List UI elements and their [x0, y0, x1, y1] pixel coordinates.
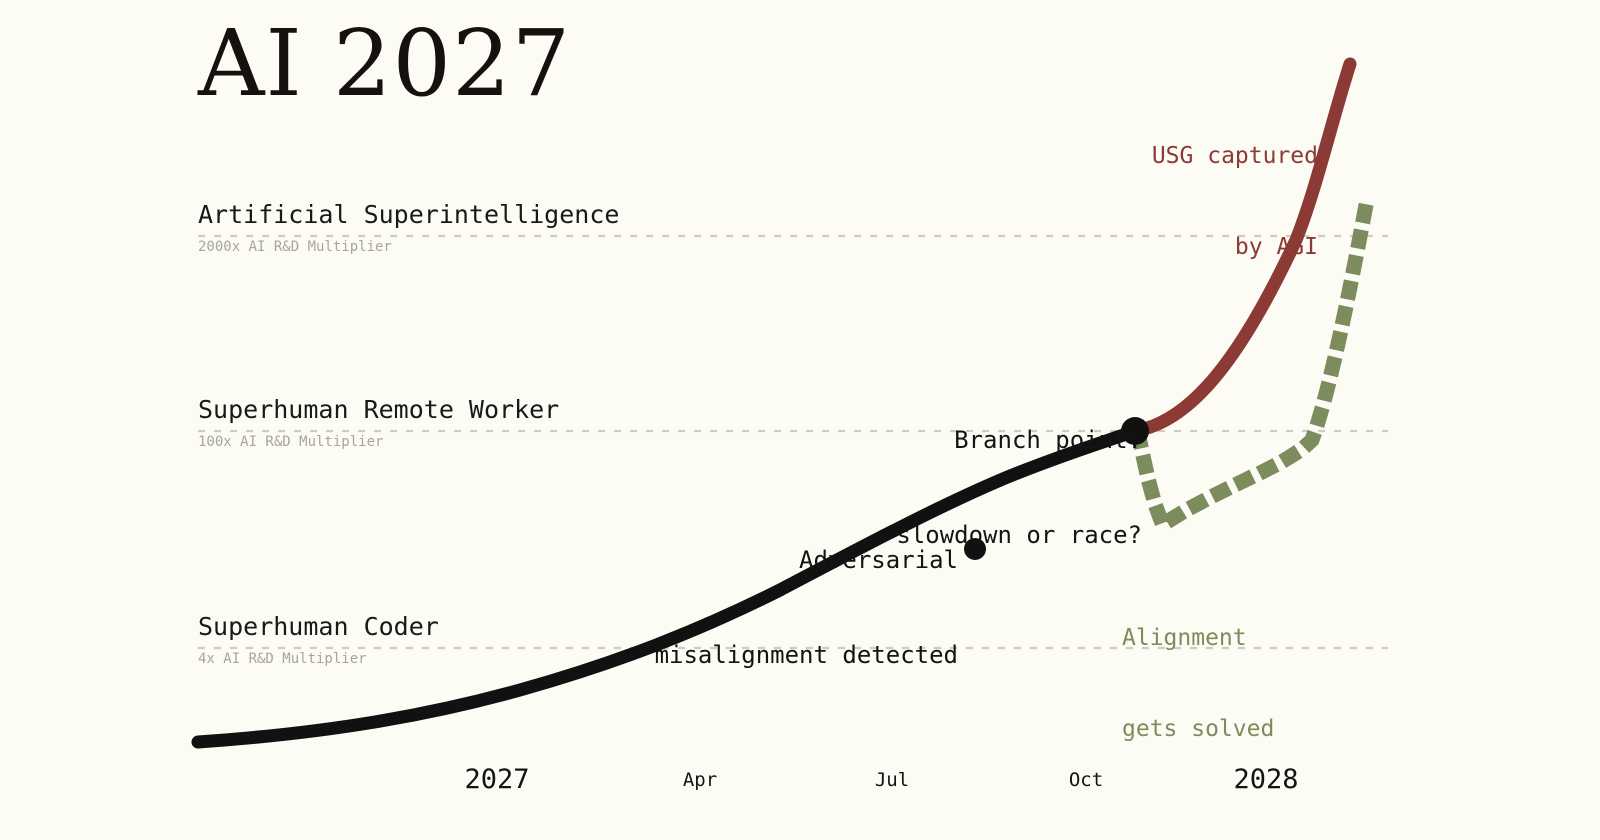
- annotation-alignment-line1: Alignment: [1122, 623, 1274, 653]
- x-tick-oct: Oct: [1069, 769, 1103, 791]
- threshold-sc: Superhuman Coder 4x AI R&D Multiplier: [198, 612, 439, 667]
- threshold-asi-title: Artificial Superintelligence: [198, 200, 619, 229]
- threshold-sc-multiplier: 4x AI R&D Multiplier: [198, 651, 439, 667]
- threshold-asi-multiplier: 2000x AI R&D Multiplier: [198, 239, 619, 255]
- ai-2027-infographic: AI 2027 Artificial Superintelligence 200…: [0, 0, 1600, 840]
- x-tick-apr: Apr: [683, 769, 717, 791]
- annotation-usg-line1: USG captured: [1152, 141, 1318, 171]
- x-tick-2028: 2028: [1233, 764, 1298, 795]
- threshold-srw: Superhuman Remote Worker 100x AI R&D Mul…: [198, 395, 559, 450]
- threshold-srw-title: Superhuman Remote Worker: [198, 395, 559, 424]
- threshold-asi: Artificial Superintelligence 2000x AI R&…: [198, 200, 619, 255]
- x-tick-jul: Jul: [875, 769, 909, 791]
- annotation-misalignment-line2: misalignment detected: [655, 640, 958, 672]
- threshold-srw-multiplier: 100x AI R&D Multiplier: [198, 434, 559, 450]
- annotation-usg-line2: by AGI: [1152, 232, 1318, 262]
- annotation-branch-line1: Branch point:: [896, 425, 1142, 457]
- x-tick-2027: 2027: [464, 764, 529, 795]
- annotation-usg-captured: USG captured by AGI: [1152, 80, 1318, 323]
- threshold-sc-title: Superhuman Coder: [198, 612, 439, 641]
- annotation-branch-line2: slowdown or race?: [896, 520, 1142, 552]
- annotation-alignment-line2: gets solved: [1122, 714, 1274, 744]
- annotation-branch-point: Branch point: slowdown or race?: [896, 362, 1142, 615]
